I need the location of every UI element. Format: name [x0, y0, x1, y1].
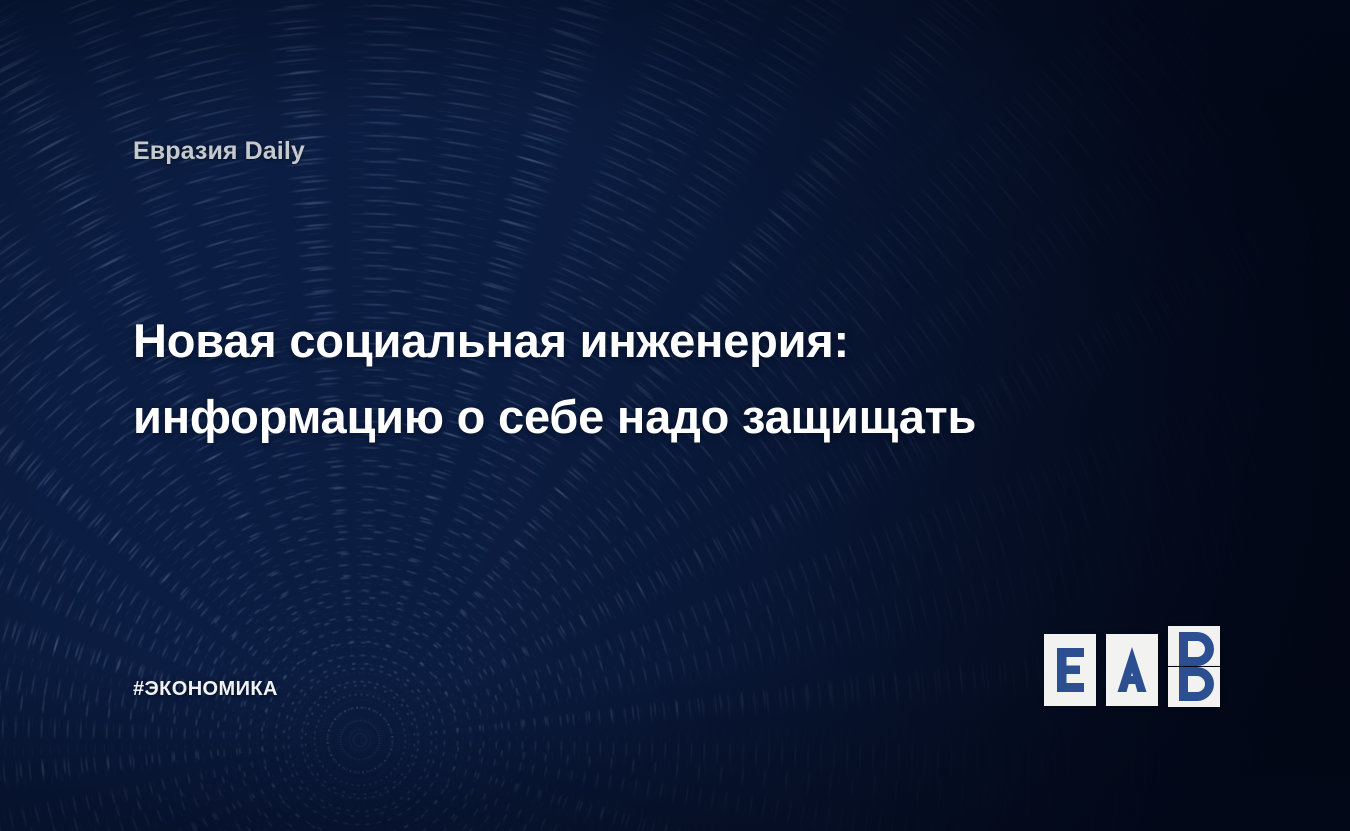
logo-tile-d-top — [1168, 626, 1220, 666]
logo-tile-d-bottom — [1168, 667, 1220, 707]
share-card: Евразия Daily Новая социальная инженерия… — [0, 0, 1350, 831]
headline: Новая социальная инженерия: информацию о… — [133, 303, 1143, 455]
headline-line-2: информацию о себе надо защищать — [133, 379, 1143, 455]
logo-tile-e — [1044, 634, 1096, 706]
card-content: Евразия Daily Новая социальная инженерия… — [0, 0, 1350, 831]
logo-tile-a — [1106, 634, 1158, 706]
letter-a-icon — [1118, 647, 1147, 692]
letter-e-icon — [1057, 648, 1084, 692]
eadaily-logo[interactable] — [1044, 626, 1224, 708]
headline-line-1: Новая социальная инженерия: — [133, 303, 1143, 379]
rubric-tag[interactable]: #ЭКОНОМИКА — [133, 678, 278, 701]
letter-d-rotated-icon — [1179, 632, 1214, 666]
letter-d-mirrored-icon — [1179, 667, 1214, 701]
brand-name: Евразия Daily — [133, 137, 305, 166]
